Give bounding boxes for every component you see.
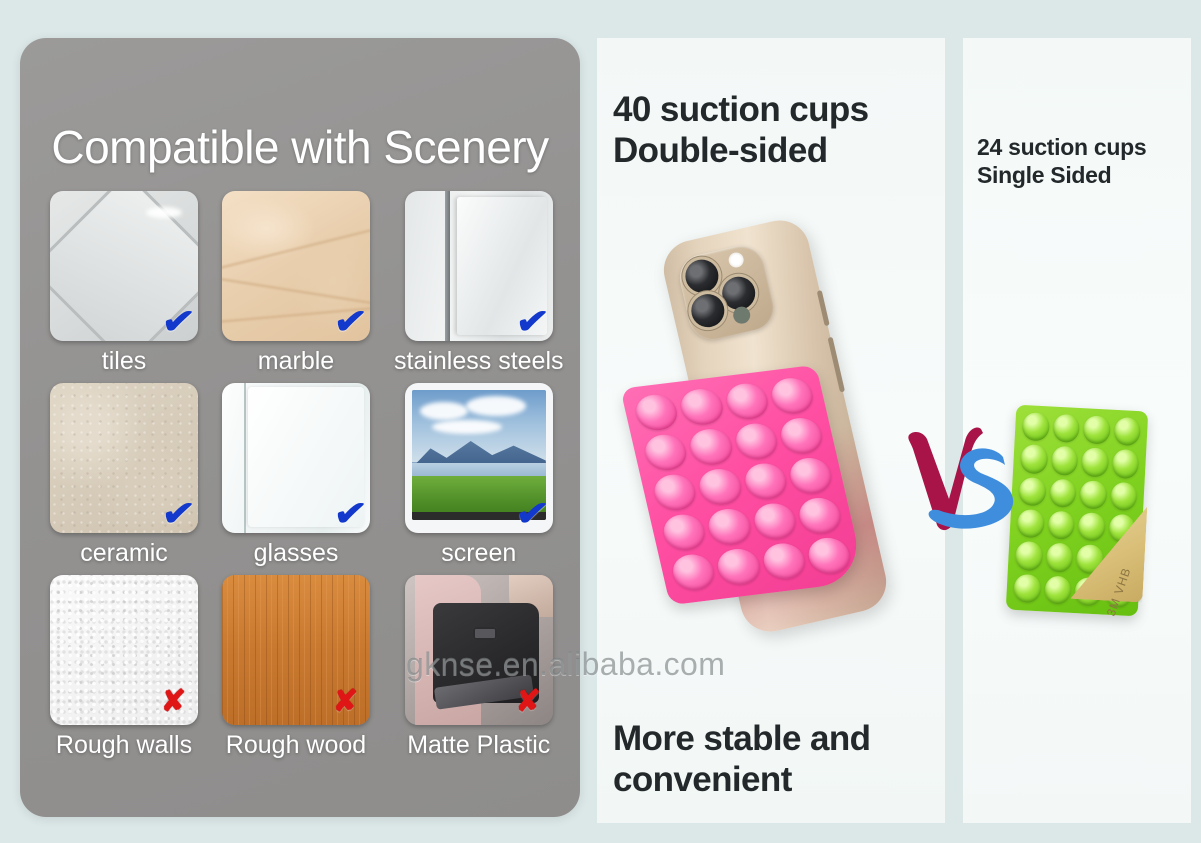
suction-cup xyxy=(805,536,853,576)
suction-cup xyxy=(1013,573,1041,603)
surface-item-matte-plastic: ✘ Matte Plastic xyxy=(394,575,564,767)
double-sided-heading-line2: Double-sided xyxy=(613,131,935,172)
single-sided-heading: 24 suction cups Single Sided xyxy=(977,134,1185,189)
suction-cup xyxy=(1022,412,1050,442)
tile-glare-highlight xyxy=(146,207,182,218)
suction-cup xyxy=(796,496,844,536)
surface-item-glasses: ✔ glasses xyxy=(222,383,370,575)
suction-cup xyxy=(750,501,798,541)
swatch-rough-wood: ✘ xyxy=(222,575,370,725)
glass-edge xyxy=(244,383,246,533)
surface-label: Matte Plastic xyxy=(407,733,550,758)
suction-cup xyxy=(1049,478,1077,508)
suction-cup xyxy=(1077,512,1105,542)
suction-cup xyxy=(1045,543,1073,573)
suction-cup xyxy=(1020,444,1048,474)
double-sided-footer: More stable and convenient xyxy=(613,719,937,801)
surface-label: ceramic xyxy=(80,541,168,566)
suction-cup xyxy=(1052,414,1080,444)
suction-cup xyxy=(777,416,825,456)
surface-label: screen xyxy=(441,541,516,566)
camera-module xyxy=(675,241,778,344)
compatibility-title: Compatible with Scenery xyxy=(20,120,580,174)
suction-cup xyxy=(1044,575,1072,605)
suction-cup xyxy=(632,392,680,432)
single-sided-heading-line1: 24 suction cups xyxy=(977,134,1185,162)
single-sided-panel: 24 suction cups Single Sided xyxy=(963,38,1191,823)
suction-cup xyxy=(687,427,735,467)
suction-cup xyxy=(660,512,708,552)
swatch-screen: ✔ xyxy=(405,383,553,533)
suction-cup xyxy=(786,456,834,496)
suction-cup xyxy=(1017,509,1045,539)
swatch-matte-plastic: ✘ xyxy=(405,575,553,725)
surface-label: tiles xyxy=(102,349,146,374)
steel-seam xyxy=(445,191,450,341)
camera-lens-icon xyxy=(682,256,722,296)
surface-item-marble: ✔ marble xyxy=(222,191,370,383)
product-infographic: Compatible with Scenery ✔ tiles ✔ xyxy=(0,0,1201,843)
swatch-stainless-steel: ✔ xyxy=(405,191,553,341)
suction-cup xyxy=(768,376,816,416)
suction-cup xyxy=(705,507,753,547)
suction-cup xyxy=(1110,481,1138,511)
suction-cup xyxy=(696,467,744,507)
phone-with-pad-image xyxy=(597,198,945,688)
cloud-shape xyxy=(420,402,468,420)
surface-item-rough-wood: ✘ Rough wood xyxy=(222,575,370,767)
suction-cup xyxy=(732,421,780,461)
phone-side-button xyxy=(817,290,830,326)
glass-pane xyxy=(248,387,364,527)
surface-label: glasses xyxy=(254,541,339,566)
surface-label: stainless steels xyxy=(394,349,564,374)
surface-item-tiles: ✔ tiles xyxy=(50,191,198,383)
cloud-shape xyxy=(466,396,526,416)
seat-control-icon xyxy=(473,627,497,640)
swatch-tiles: ✔ xyxy=(50,191,198,341)
marble-vein xyxy=(222,276,370,306)
compatibility-card: Compatible with Scenery ✔ tiles ✔ xyxy=(20,38,580,817)
suction-cup xyxy=(678,387,726,427)
double-sided-heading: 40 suction cups Double-sided xyxy=(613,90,935,172)
green-suction-pad: 3M VHB xyxy=(1006,405,1149,617)
suction-cup xyxy=(651,472,699,512)
suction-cup xyxy=(1111,449,1139,479)
surface-grid: ✔ tiles ✔ marble ✔ xyxy=(50,191,550,767)
suction-cup xyxy=(760,541,808,581)
single-sided-heading-line2: Single Sided xyxy=(977,162,1185,190)
suction-cup xyxy=(669,552,717,592)
suction-cup xyxy=(642,432,690,472)
suction-cup xyxy=(741,461,789,501)
phone-side-button xyxy=(828,337,845,393)
stucco-texture xyxy=(50,575,198,725)
screen-bottom-bezel xyxy=(412,512,546,520)
suction-cup xyxy=(1047,511,1075,541)
surface-item-stainless-steels: ✔ stainless steels xyxy=(394,191,564,383)
surface-label: marble xyxy=(258,349,334,374)
swatch-marble: ✔ xyxy=(222,191,370,341)
suction-cup xyxy=(1081,448,1109,478)
suction-cup xyxy=(1113,417,1141,447)
surface-item-rough-walls: ✘ Rough walls xyxy=(50,575,198,767)
suction-cup xyxy=(723,381,771,421)
double-sided-footer-line1: More stable and xyxy=(613,719,937,760)
surface-item-ceramic: ✔ ceramic xyxy=(50,383,198,575)
surface-item-screen: ✔ screen xyxy=(394,383,564,575)
cloud-shape xyxy=(432,420,502,434)
double-sided-panel: 40 suction cups Double-sided xyxy=(597,38,945,823)
surface-label: Rough wood xyxy=(226,733,366,758)
camera-flash-icon xyxy=(727,251,745,269)
suction-cup xyxy=(1079,480,1107,510)
suction-cup xyxy=(1015,541,1043,571)
steel-door-panel xyxy=(457,197,547,335)
double-sided-heading-line1: 40 suction cups xyxy=(613,90,935,131)
ceramic-speckle-texture xyxy=(50,383,198,533)
suction-cup xyxy=(1050,446,1078,476)
suction-cup xyxy=(1018,477,1046,507)
swatch-glass: ✔ xyxy=(222,383,370,533)
surface-label: Rough walls xyxy=(56,733,192,758)
suction-cup xyxy=(715,547,763,587)
swatch-rough-wall: ✘ xyxy=(50,575,198,725)
marble-vein xyxy=(222,306,370,323)
screen-display xyxy=(412,390,546,520)
swatch-ceramic: ✔ xyxy=(50,383,198,533)
wood-grain-texture xyxy=(222,575,370,725)
marble-vein xyxy=(222,227,370,272)
double-sided-footer-line2: convenient xyxy=(613,760,937,801)
suction-cup xyxy=(1083,415,1111,445)
